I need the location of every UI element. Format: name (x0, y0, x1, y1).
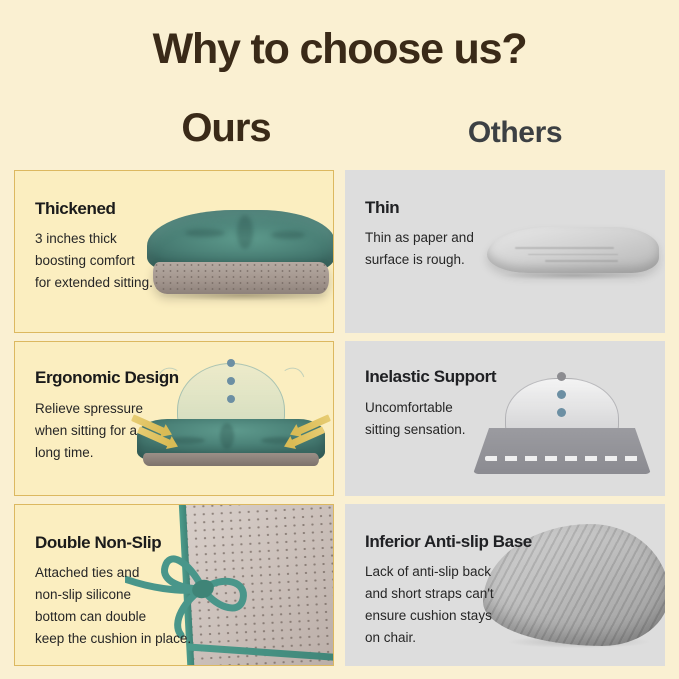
page-title: Why to choose us? (0, 26, 679, 73)
card-ours-ergonomic-design: Ergonomic Design Relieve spressure when … (14, 341, 334, 496)
card-body: Relieve spressure when sitting for a lon… (35, 398, 143, 464)
card-title: Thin (365, 198, 399, 218)
card-body: 3 inches thick boosting comfort for exte… (35, 228, 153, 294)
card-ours-thickened: Thickened 3 inches thick boosting comfor… (14, 170, 334, 333)
card-title: Thickened (35, 199, 115, 219)
column-heading-ours: Ours (116, 108, 336, 148)
inelastic-flat-support-diagram (473, 372, 651, 480)
card-body: Attached ties and non-slip silicone bott… (35, 562, 191, 649)
card-title: Inelastic Support (365, 367, 496, 387)
card-others-thin: Thin Thin as paper and surface is rough. (345, 170, 665, 333)
comparison-grid: Thickened 3 inches thick boosting comfor… (14, 170, 665, 666)
column-heading-others: Others (402, 118, 628, 148)
comparison-infographic: Why to choose us? Ours Others Thickened … (0, 0, 679, 679)
card-title: Double Non-Slip (35, 533, 161, 553)
card-others-inferior-anti-slip-base: Inferior Anti-slip Base Lack of anti-sli… (345, 504, 665, 666)
card-title: Ergonomic Design (35, 368, 179, 388)
card-ours-double-non-slip: Double Non-Slip Attached ties and non-sl… (14, 504, 334, 666)
card-title: Inferior Anti-slip Base (365, 532, 532, 552)
card-body: Lack of anti-slip back and short straps … (365, 561, 494, 648)
card-body: Uncomfortable sitting sensation. (365, 397, 466, 441)
thin-grey-pad-photo (487, 221, 659, 299)
card-others-inelastic-support: Inelastic Support Uncomfortable sitting … (345, 341, 665, 496)
card-body: Thin as paper and surface is rough. (365, 227, 474, 271)
thick-teal-cushion-photo (143, 210, 334, 306)
